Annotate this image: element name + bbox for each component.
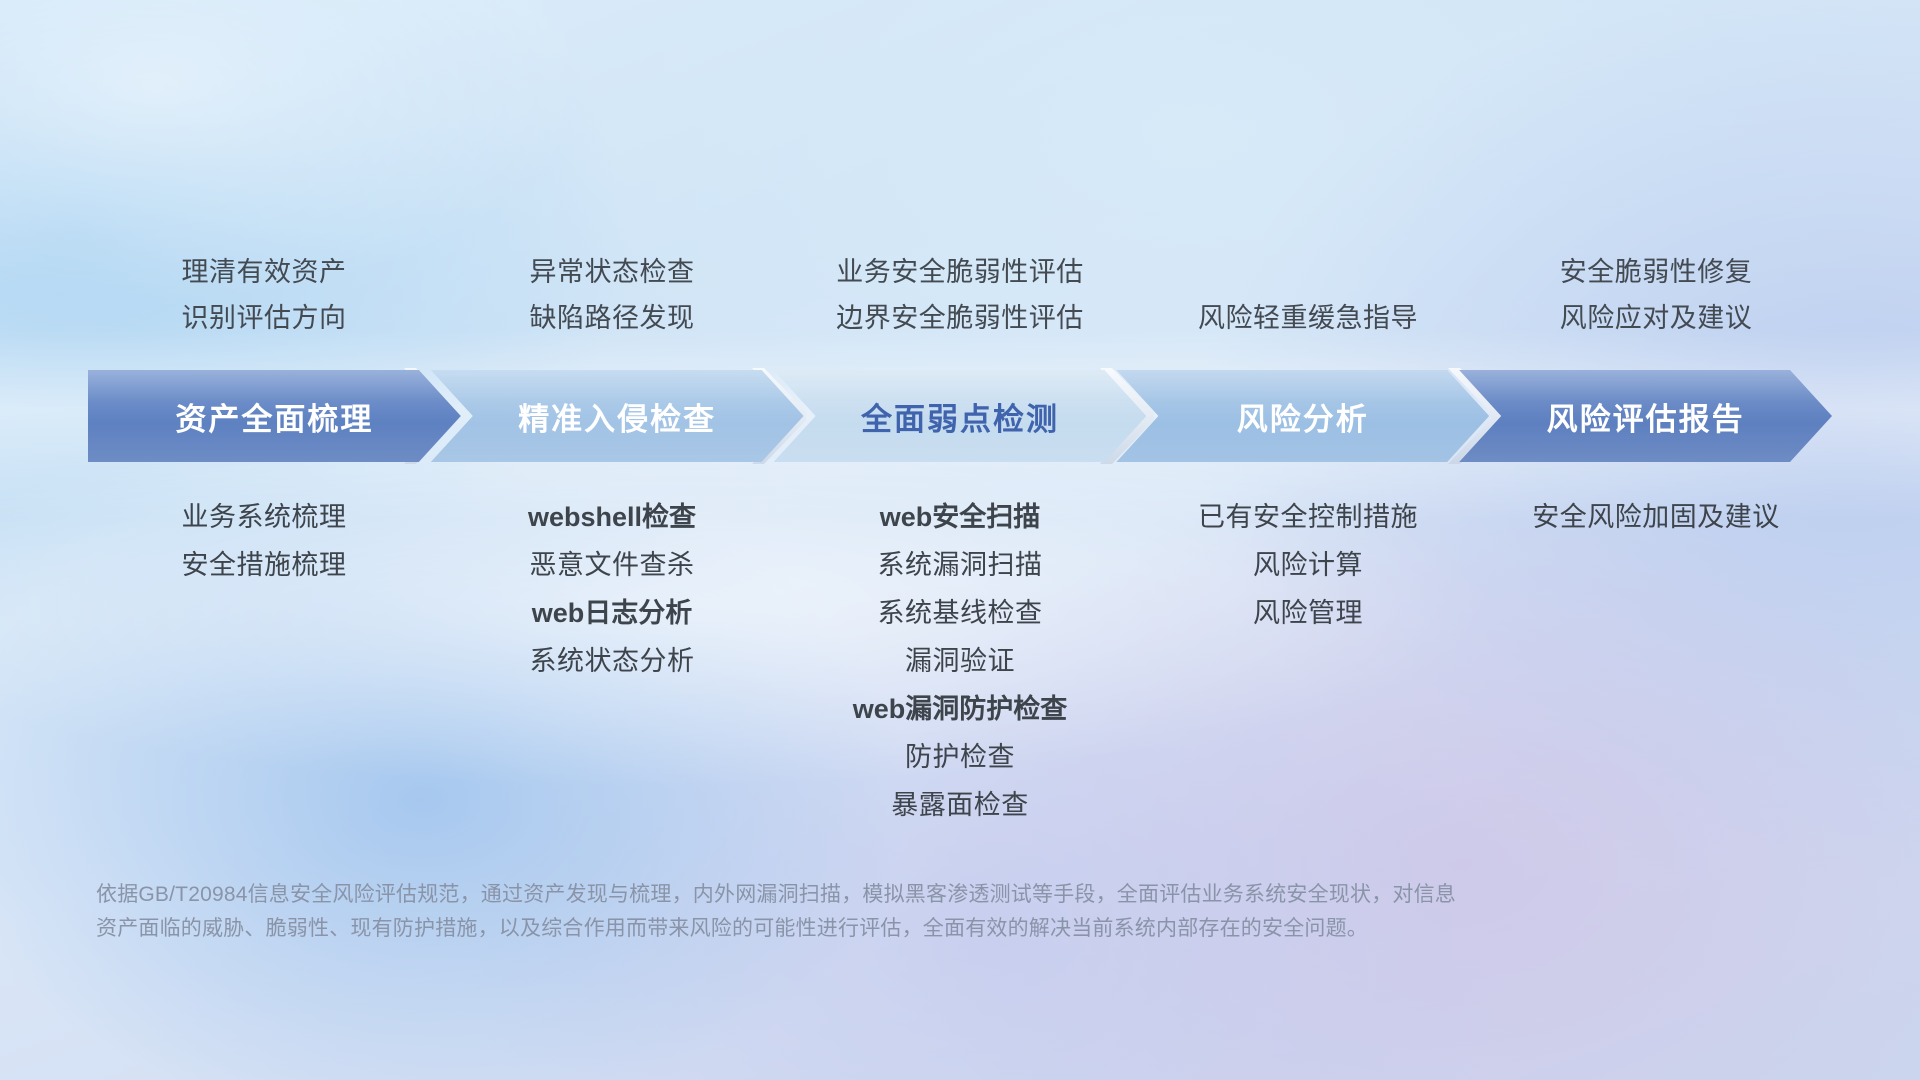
top-label: 业务安全脆弱性评估 xyxy=(786,255,1134,289)
stage-title: 精准入侵检查 xyxy=(518,394,716,439)
top-label: 风险应对及建议 xyxy=(1482,301,1830,335)
stage-arrow-weakness-detection[interactable]: 全面弱点检测 xyxy=(774,370,1147,462)
list-item: 已有安全控制措施 xyxy=(1134,500,1482,534)
bottom-labels-intrusion-check: webshell检查 恶意文件查杀 web日志分析 系统状态分析 xyxy=(438,500,786,678)
bottom-labels-risk-analysis: 已有安全控制措施 风险计算 风险管理 xyxy=(1134,500,1482,630)
top-label: 风险轻重缓急指导 xyxy=(1134,301,1482,335)
stage-title: 全面弱点检测 xyxy=(861,394,1059,439)
top-labels-weakness-detection: 业务安全脆弱性评估 边界安全脆弱性评估 xyxy=(786,225,1134,335)
list-item: 风险计算 xyxy=(1134,548,1482,582)
bottom-labels-risk-report: 安全风险加固及建议 xyxy=(1482,500,1830,534)
list-item: 风险管理 xyxy=(1134,596,1482,630)
top-labels-risk-analysis: 风险轻重缓急指导 xyxy=(1134,225,1482,335)
list-item: 暴露面检查 xyxy=(786,788,1134,822)
list-item: web漏洞防护检查 xyxy=(786,692,1134,726)
top-labels-risk-report: 安全脆弱性修复 风险应对及建议 xyxy=(1482,225,1830,335)
footer-description: 依据GB/T20984信息安全风险评估规范，通过资产发现与梳理，内外网漏洞扫描，… xyxy=(96,878,1656,946)
footer-line-2: 资产面临的威胁、脆弱性、现有防护措施，以及综合作用而带来风险的可能性进行评估，全… xyxy=(96,912,1656,946)
list-item: 防护检查 xyxy=(786,740,1134,774)
list-item: webshell检查 xyxy=(438,500,786,534)
bottom-label-row: 业务系统梳理 安全措施梳理 webshell检查 恶意文件查杀 web日志分析 … xyxy=(90,500,1830,822)
stage-title: 资产全面梳理 xyxy=(175,394,373,439)
bottom-labels-weakness-detection: web安全扫描 系统漏洞扫描 系统基线检查 漏洞验证 web漏洞防护检查 防护检… xyxy=(786,500,1134,822)
stage-title: 风险评估报告 xyxy=(1547,394,1745,439)
top-labels-intrusion-check: 异常状态检查 缺陷路径发现 xyxy=(438,225,786,335)
stage-arrow-intrusion-check[interactable]: 精准入侵检查 xyxy=(431,370,804,462)
top-label: 异常状态检查 xyxy=(438,255,786,289)
top-label: 缺陷路径发现 xyxy=(438,301,786,335)
list-item: 漏洞验证 xyxy=(786,644,1134,678)
process-arrow-band: 资产全面梳理 精准入侵检查 全面弱点检测 风险分析 风险评估报告 xyxy=(88,370,1832,462)
stage-arrow-risk-analysis[interactable]: 风险分析 xyxy=(1116,370,1489,462)
footer-line-1: 依据GB/T20984信息安全风险评估规范，通过资产发现与梳理，内外网漏洞扫描，… xyxy=(96,878,1656,912)
stage-title: 风险分析 xyxy=(1237,394,1369,439)
slide-canvas: 理清有效资产 识别评估方向 异常状态检查 缺陷路径发现 业务安全脆弱性评估 边界… xyxy=(0,0,1920,1080)
top-label-row: 理清有效资产 识别评估方向 异常状态检查 缺陷路径发现 业务安全脆弱性评估 边界… xyxy=(90,225,1830,335)
top-label: 识别评估方向 xyxy=(90,301,438,335)
list-item: 系统漏洞扫描 xyxy=(786,548,1134,582)
bottom-labels-asset-inventory: 业务系统梳理 安全措施梳理 xyxy=(90,500,438,582)
stage-arrow-asset-inventory[interactable]: 资产全面梳理 xyxy=(88,370,461,462)
list-item: 恶意文件查杀 xyxy=(438,548,786,582)
list-item: 业务系统梳理 xyxy=(90,500,438,534)
list-item: web安全扫描 xyxy=(786,500,1134,534)
top-labels-asset-inventory: 理清有效资产 识别评估方向 xyxy=(90,225,438,335)
top-label: 安全脆弱性修复 xyxy=(1482,255,1830,289)
list-item: 安全措施梳理 xyxy=(90,548,438,582)
list-item: 安全风险加固及建议 xyxy=(1482,500,1830,534)
stage-arrow-risk-report[interactable]: 风险评估报告 xyxy=(1459,370,1832,462)
list-item: 系统基线检查 xyxy=(786,596,1134,630)
top-label: 理清有效资产 xyxy=(90,255,438,289)
list-item: web日志分析 xyxy=(438,596,786,630)
list-item: 系统状态分析 xyxy=(438,644,786,678)
top-label: 边界安全脆弱性评估 xyxy=(786,301,1134,335)
